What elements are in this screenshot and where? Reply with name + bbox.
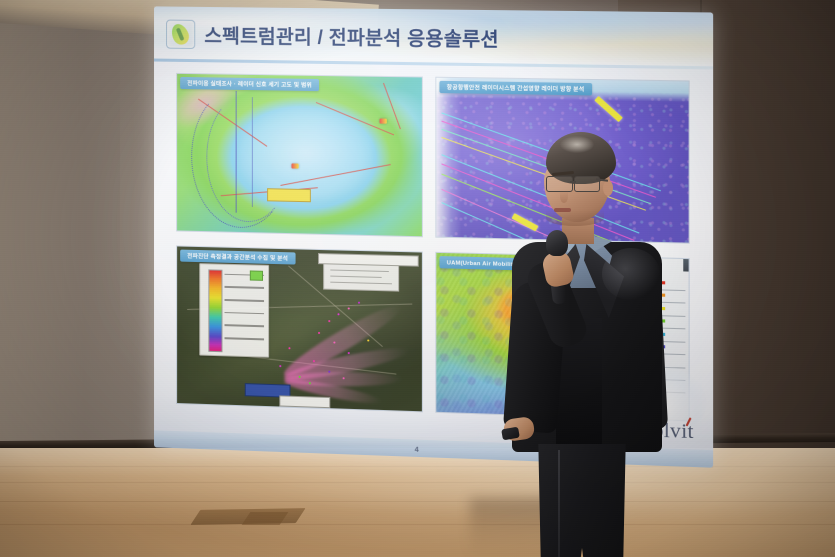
map-footer-label bbox=[279, 395, 330, 408]
presenter bbox=[486, 132, 666, 557]
presenter-shoulder-highlight bbox=[602, 248, 660, 300]
measurement-color-legend bbox=[199, 263, 269, 358]
panel-caption: 전파이용 실태조사 · 레이더 신호 세기 고도 및 범위 bbox=[180, 77, 319, 91]
legend-color-scale bbox=[208, 269, 222, 351]
trouser-crease bbox=[558, 450, 560, 557]
panel-caption: 항공항행안전 레이더시스템 간섭영향 레이더 방향 분석 bbox=[439, 81, 591, 96]
map-info-box bbox=[323, 263, 399, 292]
legend-green-chip bbox=[250, 270, 263, 281]
glasses-bridge bbox=[570, 181, 576, 183]
panel-propagation-coverage[interactable]: 전파이용 실태조사 · 레이더 신호 세기 고도 및 범위 bbox=[176, 73, 423, 237]
slide-title-row: 스펙트럼관리 / 전파분석 응용솔루션 bbox=[166, 20, 499, 54]
page-title: 스펙트럼관리 / 전파분석 응용솔루션 bbox=[204, 21, 499, 52]
presenter-jaw-shadow bbox=[546, 210, 604, 226]
page-number: 4 bbox=[415, 447, 419, 454]
panel-field-measurement[interactable]: 전파진단 측정결과 공간분석 수집 및 분석 bbox=[176, 245, 423, 412]
presentation-scene: 스펙트럼관리 / 전파분석 응용솔루션 bbox=[0, 0, 835, 557]
microphone-icon bbox=[546, 230, 568, 256]
presenter-mouth bbox=[554, 208, 571, 212]
spectrum-leaf-logo-icon bbox=[166, 20, 195, 49]
presenter-nose bbox=[560, 190, 568, 203]
uam-legend-titlebar bbox=[684, 259, 689, 272]
presenter-ear bbox=[603, 180, 613, 196]
presenter-hair-highlight bbox=[560, 136, 594, 153]
presenter-trousers bbox=[530, 444, 634, 557]
